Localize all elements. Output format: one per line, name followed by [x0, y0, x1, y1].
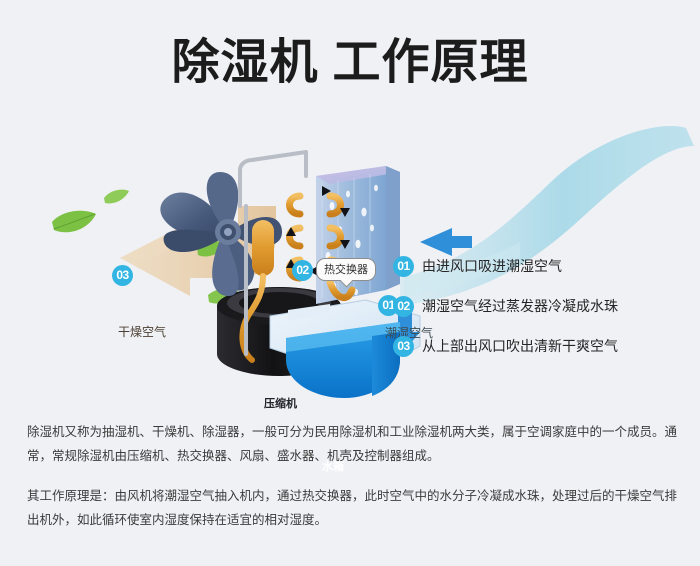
callout-heat-exchanger: 热交换器: [316, 258, 376, 281]
body-copy: 除湿机又称为抽湿机、干燥机、除湿器，一般可分为民用除湿机和工业除湿机两大类，属于…: [27, 420, 677, 532]
legend-item: 02 潮湿空气经过蒸发器冷凝成水珠: [393, 295, 693, 318]
fan-hub-center: [224, 228, 232, 236]
badge-dry-air: 03: [112, 265, 133, 286]
label-dry-air: 干燥空气: [118, 323, 166, 340]
label-compressor: 压缩机: [264, 395, 297, 411]
page-title-primary: 除湿机: [171, 36, 318, 89]
page-title-secondary: 工作原理: [333, 36, 529, 89]
legend-list: 01 由进风口吸进潮湿空气 02 潮湿空气经过蒸发器冷凝成水珠 03 从上部出风…: [393, 255, 693, 375]
page-title: 除湿机工作原理: [0, 34, 700, 92]
legend-badge: 01: [393, 256, 414, 277]
infographic-page: 除湿机工作原理: [0, 0, 700, 566]
leaf-icon: [104, 190, 129, 204]
legend-item: 01 由进风口吸进潮湿空气: [393, 255, 693, 278]
legend-item-label: 从上部出风口吹出清新干爽空气: [422, 335, 618, 357]
legend-item: 03 从上部出风口吹出清新干爽空气: [393, 335, 693, 358]
legend-item-label: 潮湿空气经过蒸发器冷凝成水珠: [422, 295, 618, 317]
body-paragraph-2: 其工作原理是：由风机将潮湿空气抽入机内，通过热交换器，此时空气中的水分子冷凝成水…: [27, 484, 677, 532]
body-paragraph-1: 除湿机又称为抽湿机、干燥机、除湿器，一般可分为民用除湿机和工业除湿机两大类，属于…: [27, 420, 677, 468]
legend-badge: 02: [393, 296, 414, 317]
badge-heat-exchanger: 02: [292, 260, 313, 281]
intake-arrow: [420, 228, 472, 256]
legend-badge: 03: [393, 336, 414, 357]
compressor-vessel: [252, 220, 274, 276]
legend-item-label: 由进风口吸进潮湿空气: [422, 255, 562, 277]
